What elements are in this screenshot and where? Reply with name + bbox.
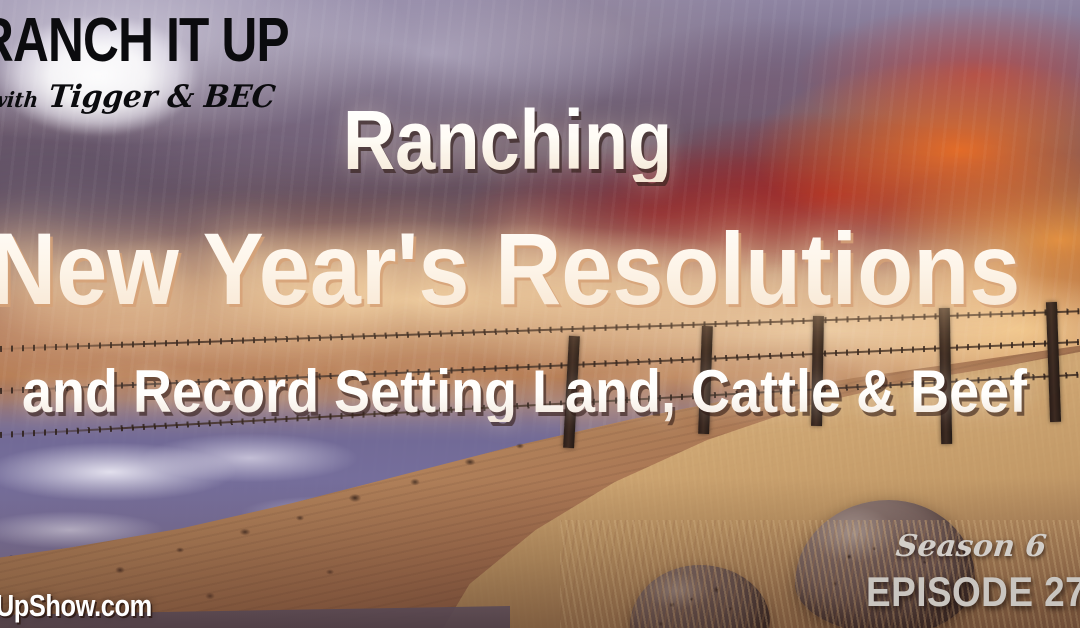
podcast-episode-artwork: RANCH IT UP with Tigger & BEC Ranching N…	[0, 0, 1080, 628]
season-label: Season 6	[894, 529, 1048, 564]
title-line-1: Ranching	[343, 98, 672, 182]
ranch-it-up-logo[interactable]: RANCH IT UP with Tigger & BEC	[0, 4, 240, 154]
logo-wordmark: RANCH IT UP	[0, 10, 188, 72]
title-line-3: and Record Setting Land, Cattle & Beef	[22, 362, 1027, 422]
title-line-2: New Year's Resolutions	[0, 218, 1020, 320]
episode-number-label: EPISODE 27	[866, 568, 1080, 616]
logo-tagline-hosts: Tigger & BEC	[47, 79, 277, 115]
logo-tagline: with Tigger & BEC	[0, 82, 229, 113]
logo-tagline-with: with	[0, 87, 40, 112]
website-url[interactable]: hItUpShow.com	[0, 588, 152, 624]
